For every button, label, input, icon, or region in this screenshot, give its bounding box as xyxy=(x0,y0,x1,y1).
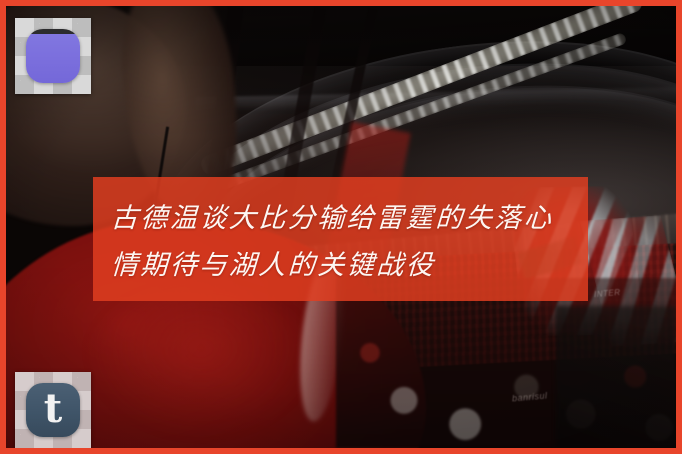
red-shirt-highlight xyxy=(86,288,316,438)
tumblr-icon[interactable]: t xyxy=(15,372,91,448)
image-canvas: banrisul INTER 古德温谈大比分输给雷霆的失落心 情期待与湖人的关键… xyxy=(0,0,682,454)
purple-app-icon-glyph xyxy=(26,29,80,83)
purple-app-icon[interactable] xyxy=(15,18,91,94)
headline-line-2: 情期待与湖人的关键战役 xyxy=(110,242,571,289)
tumblr-icon-tile: t xyxy=(26,383,80,437)
bottom-right-shadow xyxy=(556,306,676,448)
headline-banner: 古德温谈大比分输给雷霆的失落心 情期待与湖人的关键战役 xyxy=(93,177,588,301)
headline-line-1: 古德温谈大比分输给雷霆的失落心 xyxy=(110,195,571,242)
tumblr-icon-letter: t xyxy=(44,389,62,429)
